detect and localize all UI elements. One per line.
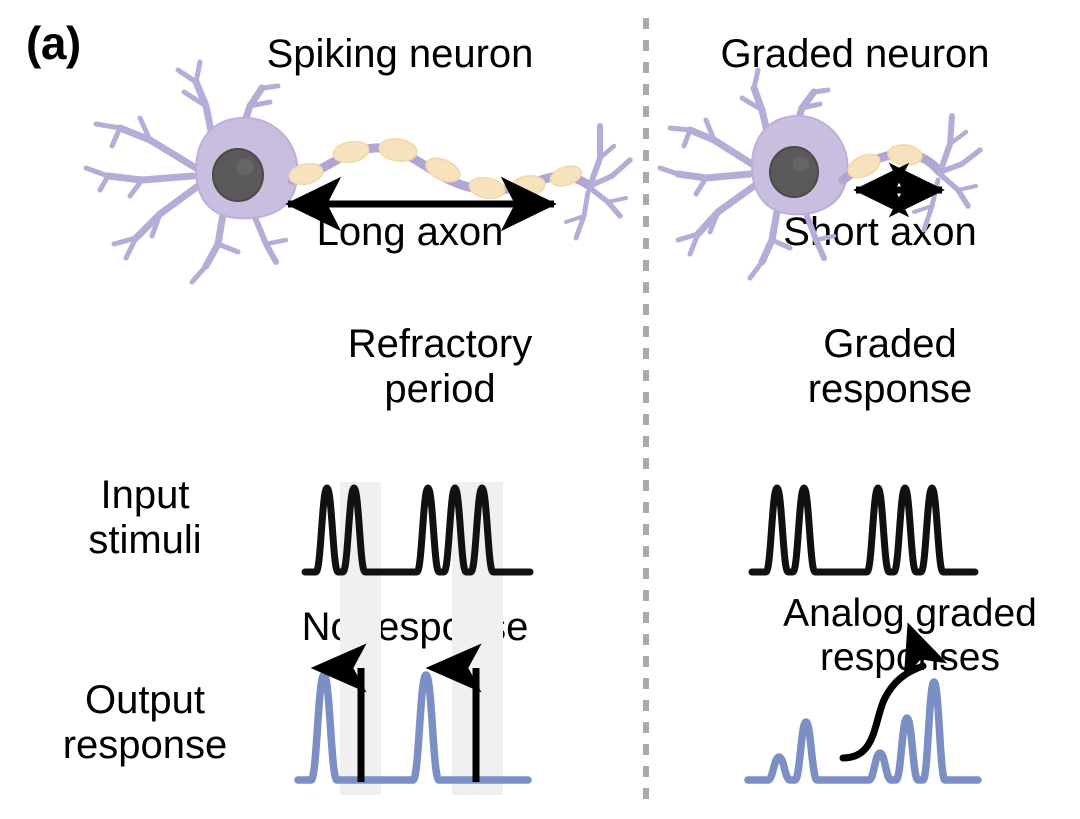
soma-right: [752, 116, 848, 215]
axon-left: [292, 148, 590, 190]
long-axon-label: Long axon: [255, 210, 565, 255]
graded-response-title: Graded response: [700, 322, 1080, 412]
right-column-title: Graded neuron: [660, 32, 1050, 77]
panel-label: (a): [26, 18, 81, 70]
left-column-title: Spiking neuron: [200, 32, 600, 77]
graded-input-stimuli-trace: [752, 488, 975, 572]
analog-graded-responses-annotation: Analog graded responses: [745, 592, 1075, 679]
nucleus-right: [770, 147, 818, 197]
myelin-sheath-left: [287, 136, 584, 201]
myelin-sheath-right: [844, 143, 923, 182]
output-response-row-label: Output response: [10, 678, 280, 768]
axon-right: [843, 154, 940, 180]
refractory-period-title: Refractory period: [240, 322, 640, 412]
input-stimuli-row-label: Input stimuli: [20, 473, 270, 563]
short-axon-label: Short axon: [745, 210, 1015, 255]
soma-left: [196, 118, 298, 219]
analog-graded-curved-arrow: [843, 666, 923, 758]
spiking-input-stimuli-trace: [305, 488, 530, 572]
nucleus-left: [213, 149, 263, 201]
spiking-output-response-trace: [298, 675, 528, 780]
figure-panel-a: (a) Spiking neuron Graded neuron Long ax…: [0, 0, 1080, 819]
no-response-annotation: No response: [285, 605, 545, 650]
axon-terminals-left: [566, 126, 630, 238]
nucleus-highlight-left: [236, 159, 254, 175]
nucleus-highlight-right: [793, 157, 810, 172]
graded-output-response-trace: [748, 682, 978, 780]
